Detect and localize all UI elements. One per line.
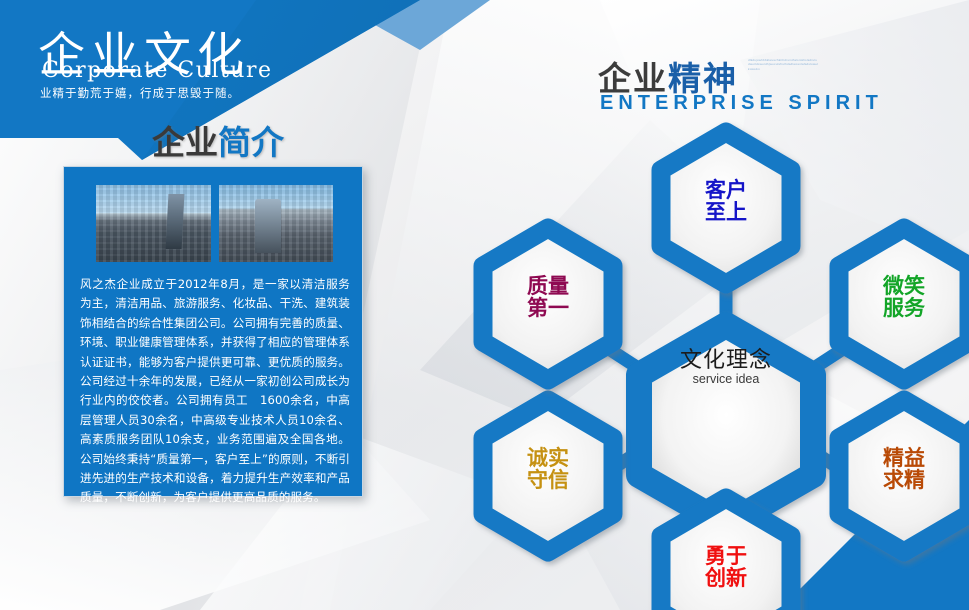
corporate-culture-subtitle: 业精于勤荒于嬉，行成于思毁于随。 bbox=[40, 85, 240, 101]
company-profile-title-cn-dark: 企业 bbox=[152, 124, 218, 161]
hexagon-node-upper-left[interactable] bbox=[483, 228, 613, 380]
hexagon-node-bottom[interactable] bbox=[661, 498, 791, 610]
hexagon-node-lower-right[interactable] bbox=[839, 400, 969, 552]
corporate-culture-title-en: Corporate Culture bbox=[42, 58, 273, 83]
hexagon-node-top[interactable] bbox=[661, 132, 791, 284]
company-profile-title: 企业简介 bbox=[152, 116, 284, 164]
culture-hexagon-diagram: 文化理念 service idea 客户 至上 微笑 服务 精益 求精 勇于 创… bbox=[480, 110, 969, 610]
decorative-microtext: dlkdsjowhbbklwuschkithdrsmthslsmkhslsdru… bbox=[748, 58, 818, 86]
center-hexagon-label-cn: 文化理念 bbox=[646, 342, 806, 374]
hexagon-node-upper-right[interactable] bbox=[839, 228, 969, 380]
center-hexagon-label-en: service idea bbox=[646, 372, 806, 386]
hexagon-node-lower-left[interactable] bbox=[483, 400, 613, 552]
company-photo-strip bbox=[96, 185, 333, 262]
city-skyline-photo-1 bbox=[96, 185, 211, 262]
poster-canvas: 企业文化 Corporate Culture 业精于勤荒于嬉，行成于思毁于随。 … bbox=[0, 0, 969, 610]
company-profile-title-cn-blue: 简介 bbox=[218, 124, 284, 161]
city-skyline-photo-2 bbox=[219, 185, 334, 262]
company-profile-card: 风之杰企业成立于2012年8月，是一家以清洁服务为主，清洁用品、旅游服务、化妆品… bbox=[63, 166, 363, 497]
company-profile-body-text: 风之杰企业成立于2012年8月，是一家以清洁服务为主，清洁用品、旅游服务、化妆品… bbox=[80, 275, 350, 508]
